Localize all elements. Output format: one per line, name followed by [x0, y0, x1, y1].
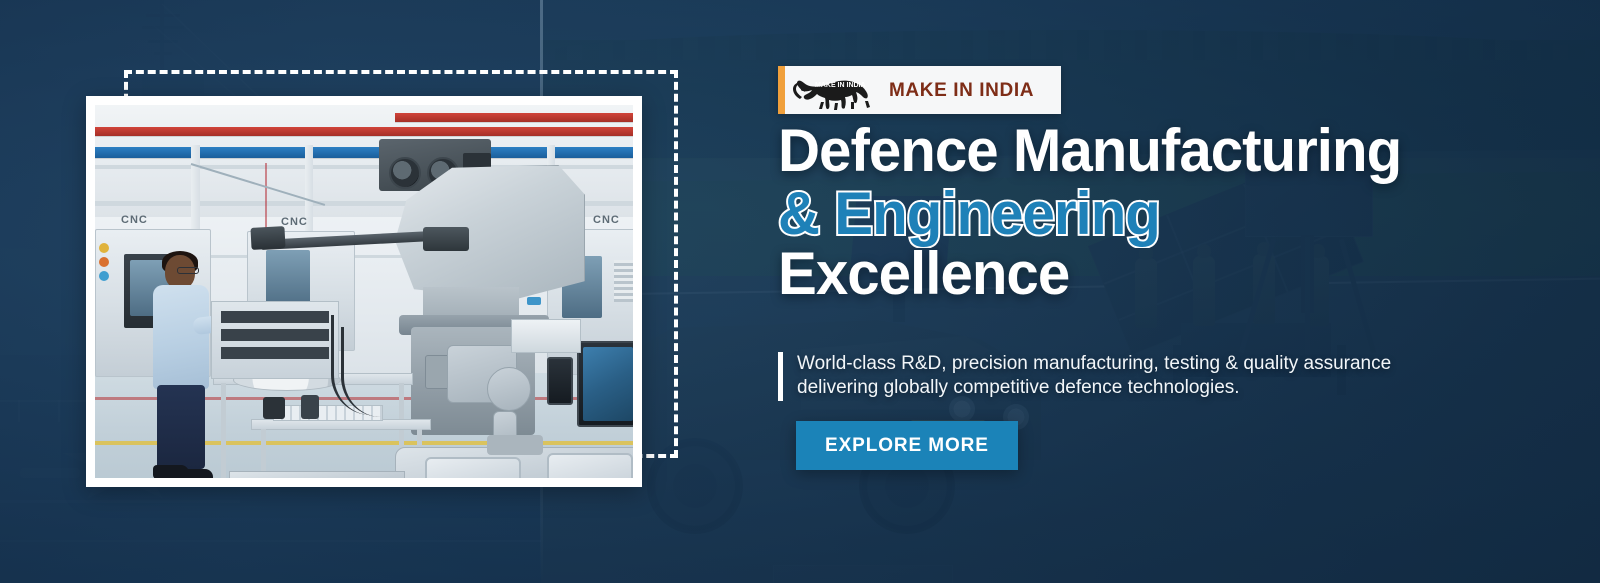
- cnc-label: CNC: [121, 215, 148, 226]
- svg-text:MAKE IN INDIA: MAKE IN INDIA: [815, 82, 866, 89]
- subtitle-block: World-class R&D, precision manufacturing…: [778, 352, 1538, 401]
- headline-line-2: & Engineering: [778, 185, 1515, 243]
- factory-photo: CNC CNC CNC: [95, 105, 633, 478]
- headline-line-3: Excellence: [778, 245, 1515, 303]
- subtitle-line-2: delivering globally competitive defence …: [797, 377, 1240, 398]
- explore-more-button[interactable]: EXPLORE MORE: [796, 421, 1018, 470]
- badge-accent-bar: [778, 66, 785, 114]
- headline-line-1: Defence Manufacturing: [778, 122, 1515, 180]
- subtitle-accent-bar: [778, 352, 783, 401]
- hero-banner: 520: [0, 0, 1600, 583]
- make-in-india-lion-icon: MAKE IN INDIA: [785, 66, 889, 114]
- subtitle-line-1: World-class R&D, precision manufacturing…: [797, 353, 1391, 374]
- page-title: Defence Manufacturing & Engineering Exce…: [778, 122, 1538, 304]
- badge-label: MAKE IN INDIA: [889, 81, 1034, 100]
- worker-figure-icon: [147, 255, 219, 478]
- subtitle-text: World-class R&D, precision manufacturing…: [797, 352, 1391, 401]
- hero-photo-card: CNC CNC CNC: [86, 96, 642, 487]
- make-in-india-badge: MAKE IN INDIA MAKE IN INDIA: [778, 66, 1061, 114]
- hero-content: MAKE IN INDIA MAKE IN INDIA Defence Manu…: [778, 0, 1538, 583]
